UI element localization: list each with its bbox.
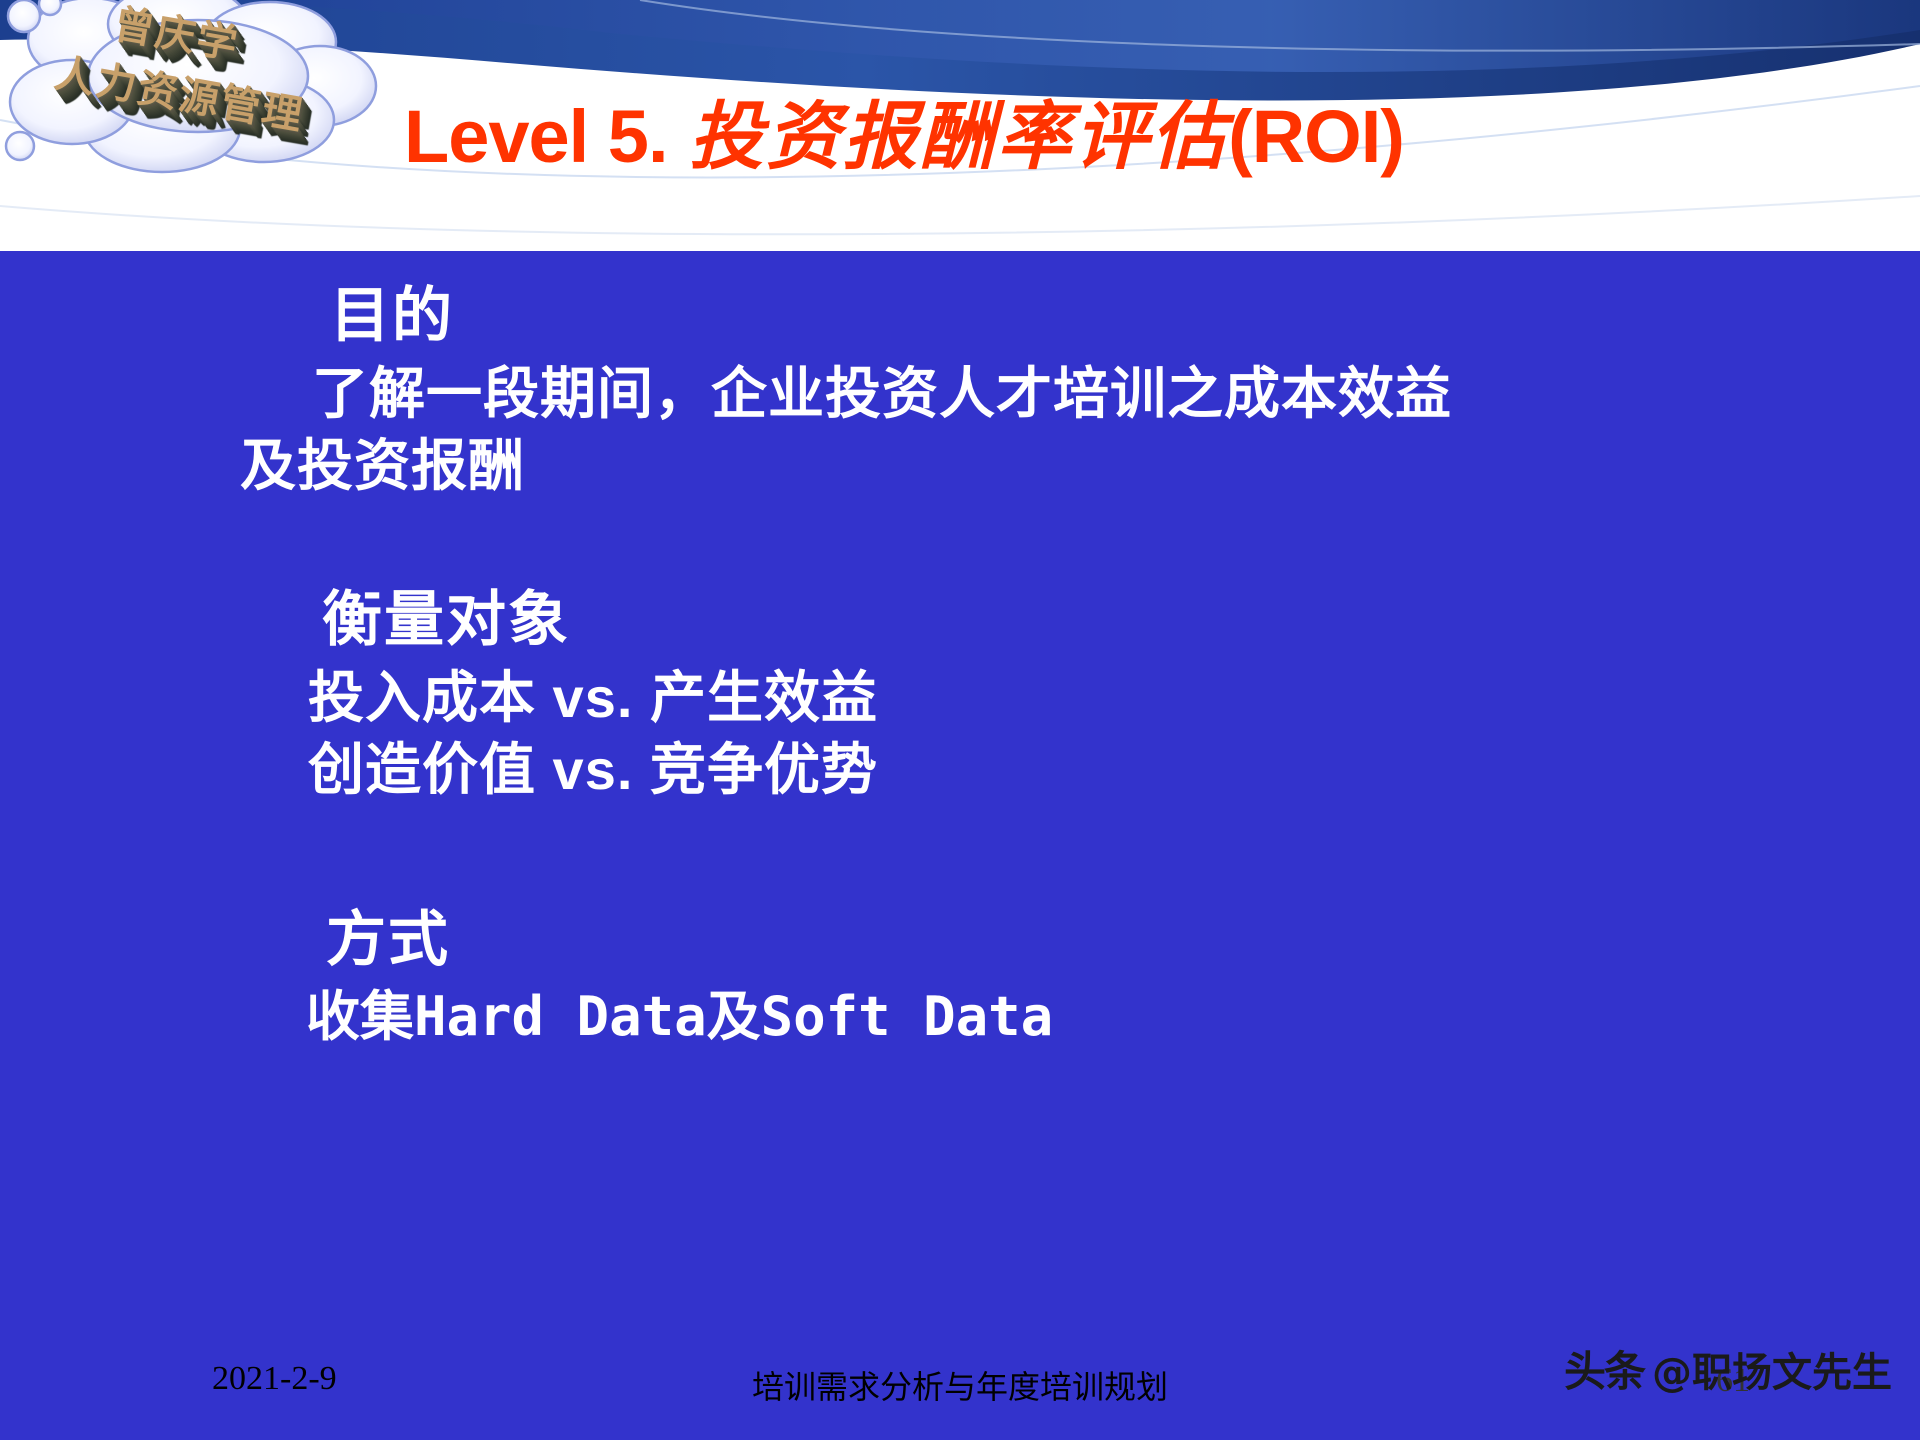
title-cjk: 投资报酬率评估 bbox=[689, 94, 1228, 180]
slide-body: 目的 了解一段期间，企业投资人才培训之成本效益 及投资报酬 衡量对象 投入成本 … bbox=[0, 258, 1920, 1440]
section-heading-measure-target: 衡量对象 bbox=[322, 590, 570, 650]
section-heading-method: 方式 bbox=[326, 910, 450, 970]
purpose-line-1: 了解一段期间，企业投资人才培训之成本效益 bbox=[312, 366, 1452, 422]
cloud-shape-icon bbox=[2, 0, 392, 184]
slide-header: 曾庆学 人力资源管理 Level 5. 投资报酬率评估(ROI) bbox=[0, 0, 1920, 258]
title-latin: Level 5. bbox=[404, 95, 668, 178]
measure-line-2: 创造价值 vs. 竞争优势 bbox=[308, 742, 878, 798]
title-roi: (ROI) bbox=[1228, 95, 1404, 178]
watermark-handle: @职场文先生 bbox=[1652, 1340, 1892, 1398]
watermark-logo: 头条 bbox=[1564, 1338, 1644, 1399]
purpose-line-2: 及投资报酬 bbox=[240, 438, 525, 494]
slide: 曾庆学 人力资源管理 Level 5. 投资报酬率评估(ROI) 目的 了解一段… bbox=[0, 0, 1920, 1440]
measure-line-1: 投入成本 vs. 产生效益 bbox=[308, 670, 878, 726]
slide-title: Level 5. 投资报酬率评估(ROI) bbox=[404, 100, 1864, 174]
method-line-1: 收集Hard Data及Soft Data bbox=[306, 990, 1053, 1044]
section-heading-purpose: 目的 bbox=[330, 286, 454, 346]
brand-logo: 曾庆学 人力资源管理 bbox=[2, 0, 392, 184]
watermark: 头条 @职场文先生 bbox=[1564, 1338, 1892, 1399]
